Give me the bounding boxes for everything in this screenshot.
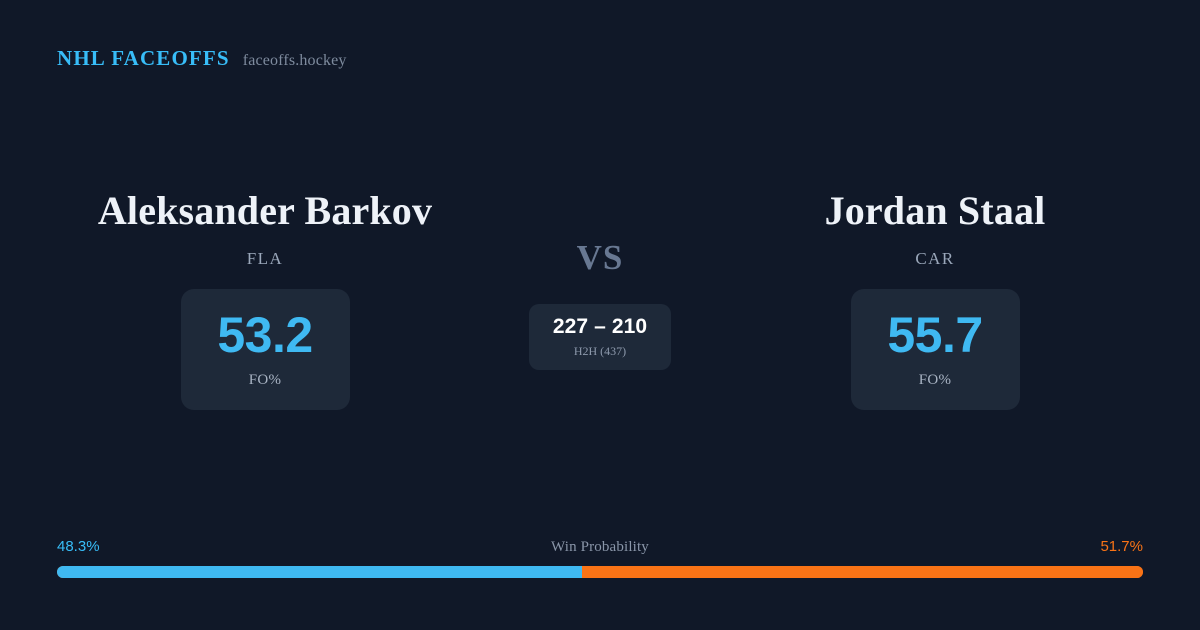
versus-block: VS 227 – 210 H2H (437)	[505, 190, 695, 370]
faceoff-stat-label-left: FO%	[249, 372, 282, 389]
player-team-right: CAR	[915, 249, 954, 269]
win-probability-right-value: 51.7%	[1100, 538, 1143, 555]
player-team-left: FLA	[247, 249, 283, 269]
win-probability-title: Win Probability	[551, 539, 649, 556]
head-to-head-label: H2H (437)	[574, 344, 626, 359]
head-to-head-score: 227 – 210	[553, 316, 647, 337]
faceoff-stat-card-right: 55.7 FO%	[851, 289, 1020, 410]
matchup-section: Aleksander Barkov FLA 53.2 FO% VS 227 – …	[0, 190, 1200, 410]
win-probability-labels: 48.3% Win Probability 51.7%	[57, 538, 1143, 556]
player-card-right: Jordan Staal CAR 55.7 FO%	[695, 190, 1175, 410]
win-probability-bar-right	[582, 566, 1143, 578]
page-header: NHL FACEOFFS faceoffs.hockey	[57, 46, 347, 71]
win-probability-bar	[57, 566, 1143, 578]
win-probability-section: 48.3% Win Probability 51.7%	[57, 538, 1143, 578]
versus-label: VS	[577, 240, 624, 275]
win-probability-bar-left	[57, 566, 582, 578]
player-name-left: Aleksander Barkov	[98, 190, 432, 232]
player-card-left: Aleksander Barkov FLA 53.2 FO%	[25, 190, 505, 410]
brand-title: NHL FACEOFFS	[57, 46, 230, 71]
player-name-right: Jordan Staal	[825, 190, 1046, 232]
faceoff-stat-card-left: 53.2 FO%	[181, 289, 350, 410]
head-to-head-card: 227 – 210 H2H (437)	[529, 304, 671, 370]
faceoff-percent-left: 53.2	[217, 310, 312, 360]
faceoff-percent-right: 55.7	[887, 310, 982, 360]
faceoff-stat-label-right: FO%	[919, 372, 952, 389]
win-probability-left-value: 48.3%	[57, 538, 100, 555]
site-name: faceoffs.hockey	[243, 52, 347, 70]
